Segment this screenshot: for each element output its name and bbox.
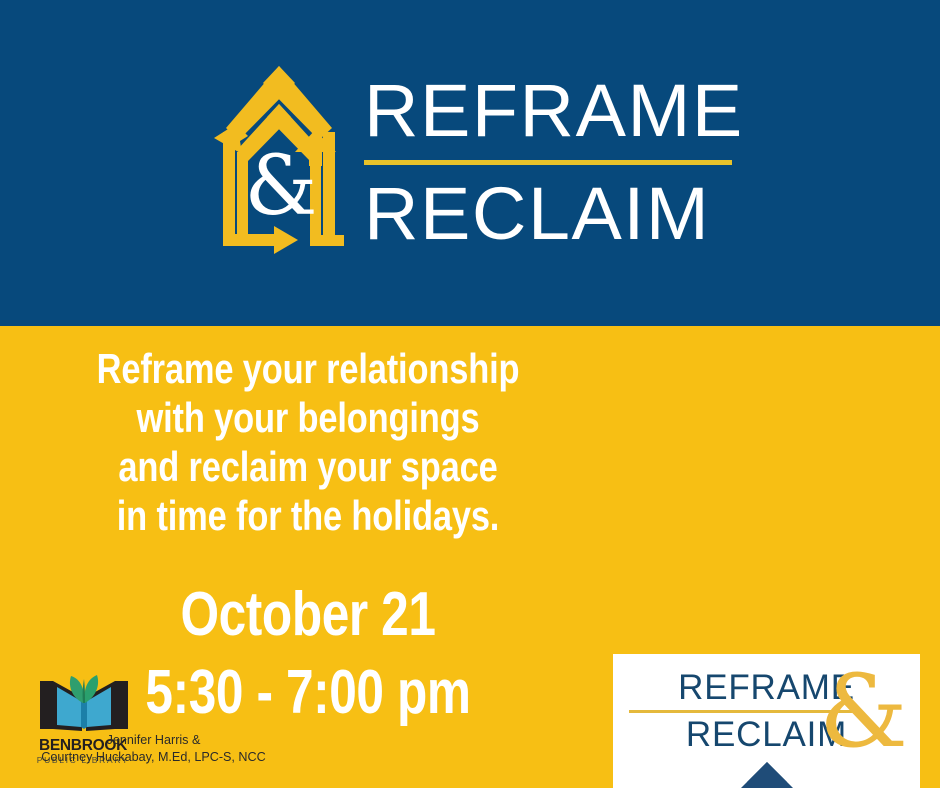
wordmark-divider xyxy=(364,160,732,165)
wordmark-reframe: REFRAME xyxy=(364,62,743,154)
content-panel: Reframe your relationship with your belo… xyxy=(0,326,940,788)
header-banner: & REFRAME RECLAIM xyxy=(0,0,940,326)
book-author-line: Jennifer Harris & xyxy=(0,732,307,749)
book-author-line: Courtney Huckabay, M.Ed, LPC-S, NCC xyxy=(0,749,307,766)
book-cover-card: REFRAME RECLAIM & xyxy=(613,654,920,788)
book-authors-block: Jennifer Harris & Courtney Huckabay, M.E… xyxy=(0,732,307,766)
event-flyer: & REFRAME RECLAIM Reframe your relations… xyxy=(0,0,940,788)
tagline-line: and reclaim your space xyxy=(78,442,537,491)
open-book-leaf-icon xyxy=(38,673,130,735)
event-time: 5:30 - 7:00 pm xyxy=(84,654,532,732)
reframe-reclaim-logo: & REFRAME RECLAIM xyxy=(196,62,736,262)
book-title-block: REFRAME RECLAIM & xyxy=(627,668,906,756)
logo-wordmark: REFRAME RECLAIM xyxy=(364,62,736,258)
wordmark-reclaim: RECLAIM xyxy=(364,169,743,257)
event-date: October 21 xyxy=(84,576,532,654)
logo-ampersand: & xyxy=(236,146,326,228)
house-arrows-icon xyxy=(629,758,904,788)
tagline-block: Reframe your relationship with your belo… xyxy=(28,344,588,540)
tagline-line: Reframe your relationship xyxy=(78,344,537,393)
tagline-line: with your belongings xyxy=(78,393,537,442)
tagline-line: in time for the holidays. xyxy=(78,491,537,540)
book-ampersand: & xyxy=(819,662,908,762)
